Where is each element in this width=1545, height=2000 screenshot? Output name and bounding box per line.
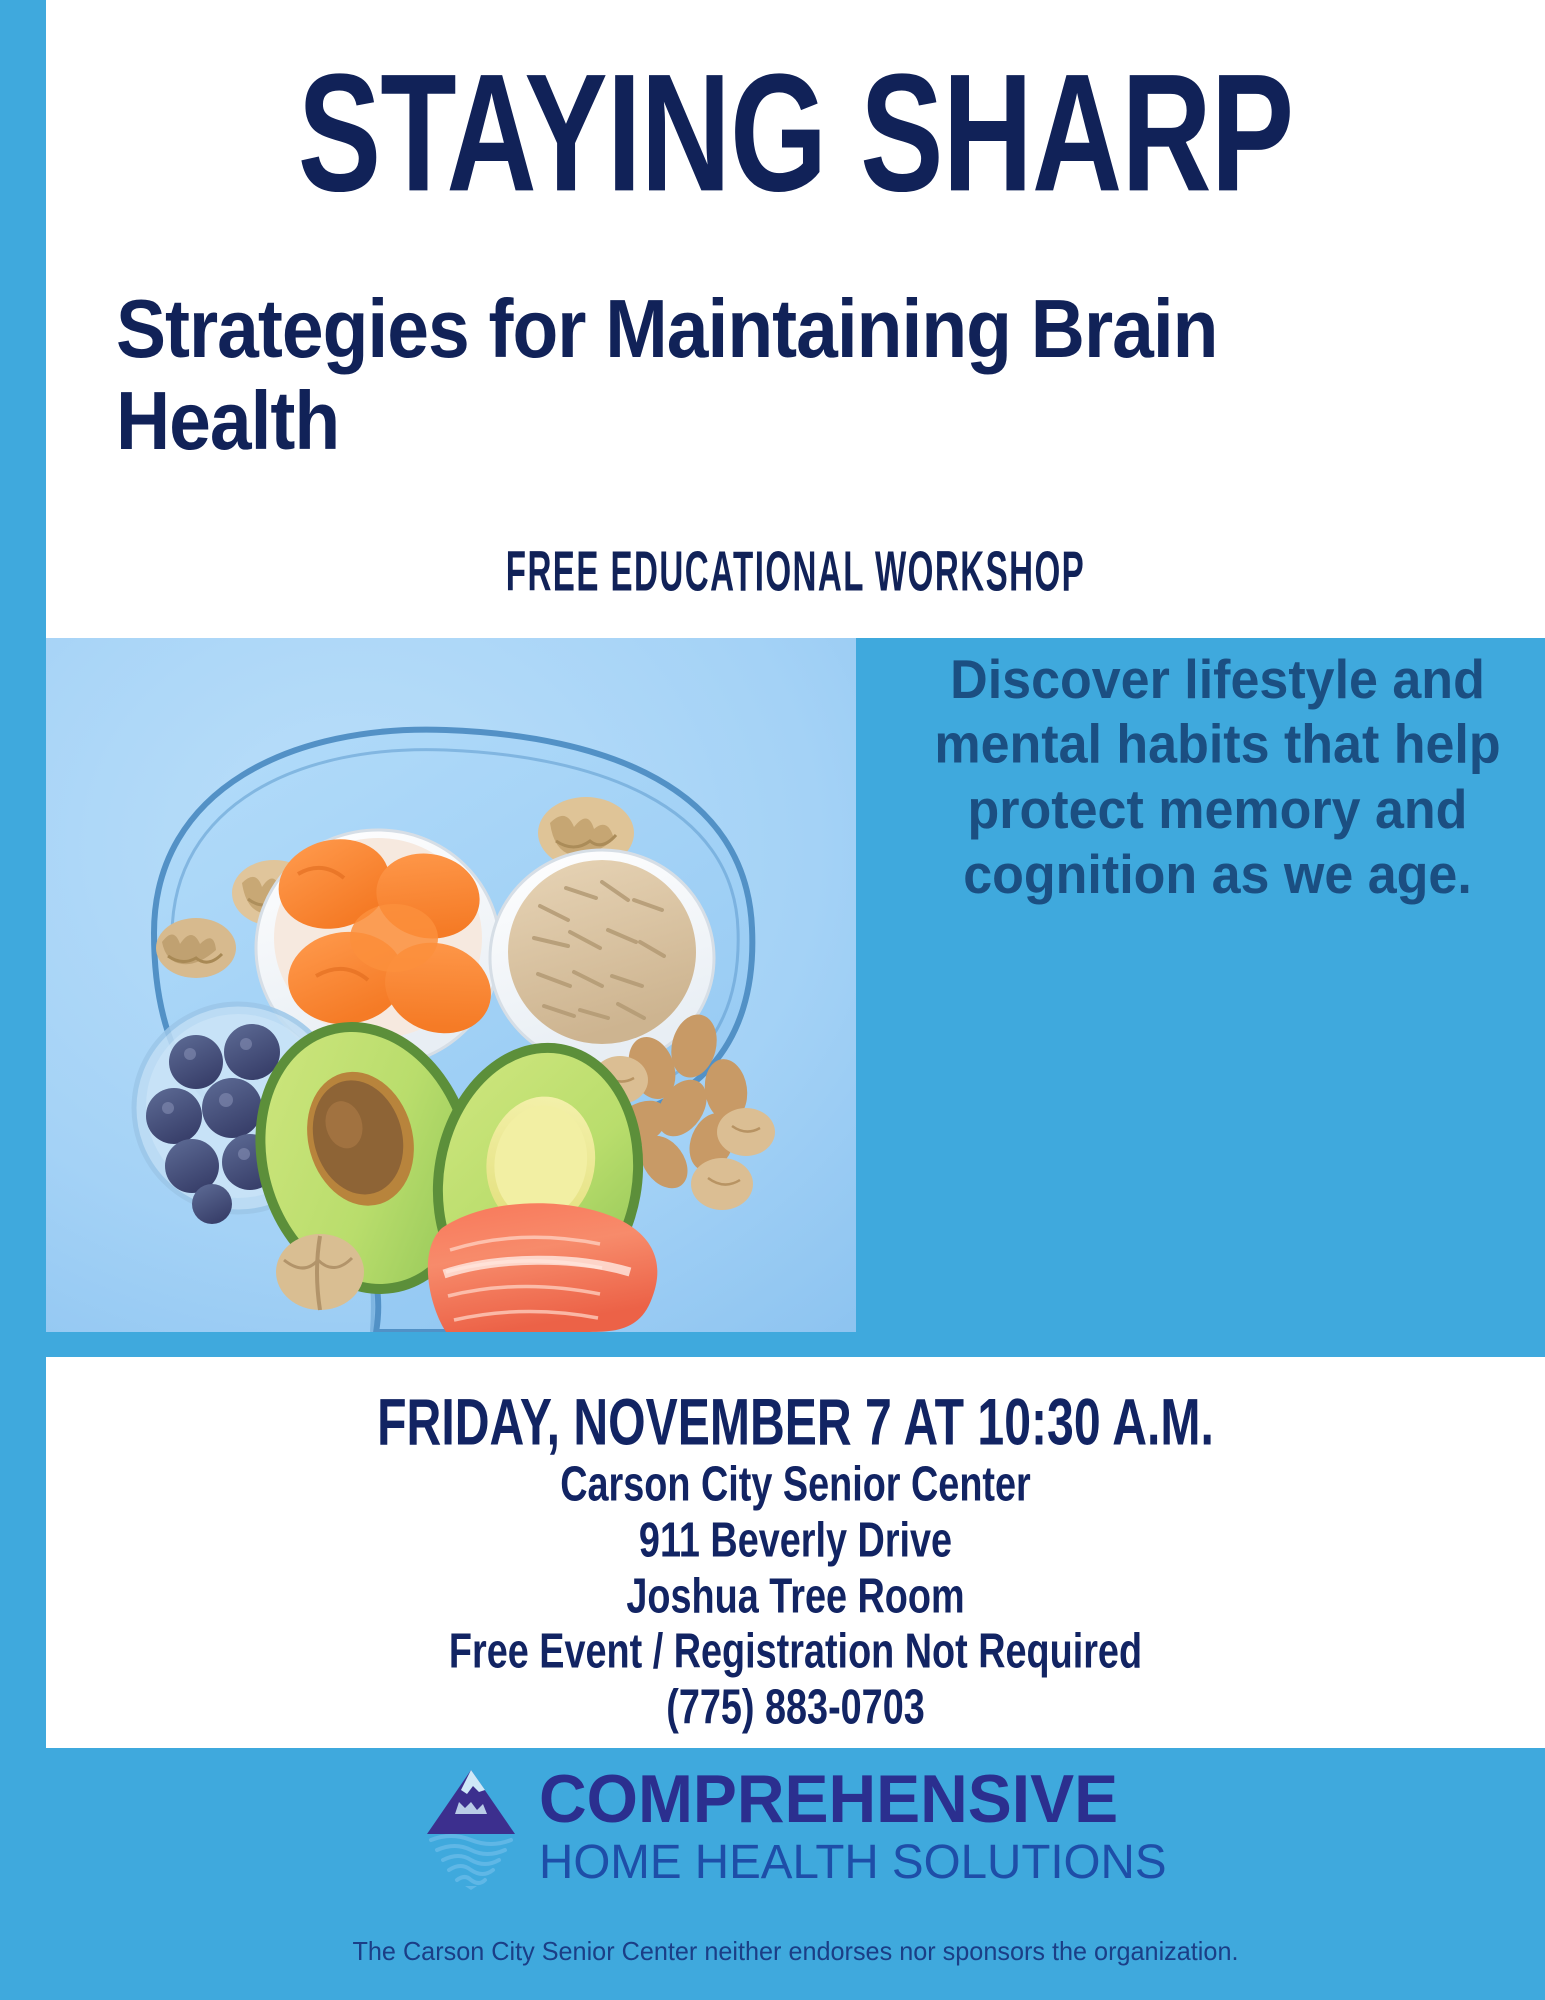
event-phone[interactable]: (775) 883-0703 — [121, 1683, 1470, 1733]
sponsor-name: COMPREHENSIVE — [539, 1765, 1154, 1833]
salmon-fillet — [428, 1203, 658, 1332]
event-venue: Carson City Senior Center — [121, 1460, 1470, 1510]
event-address: 911 Beverly Drive — [121, 1516, 1470, 1566]
sponsor-logo: COMPREHENSIVE HOME HEALTH SOLUTIONS — [46, 1762, 1545, 1890]
disclaimer-text: The Carson City Senior Center neither en… — [68, 1936, 1522, 1967]
mountain-over-water-icon — [419, 1762, 523, 1890]
workshop-kicker: FREE EDUCATIONAL WORKSHOP — [256, 538, 1335, 604]
event-dateline: FRIDAY, NOVEMBER 7 AT 10:30 A.M. — [151, 1383, 1440, 1460]
event-details-section: FRIDAY, NOVEMBER 7 AT 10:30 A.M. Carson … — [46, 1357, 1545, 1748]
flyer-page: STAYING SHARP Strategies for Maintaining… — [0, 0, 1545, 2000]
brain-food-illustration — [46, 638, 856, 1332]
sponsor-logo-text: COMPREHENSIVE HOME HEALTH SOLUTIONS — [539, 1765, 1173, 1887]
walnut-whole — [276, 1234, 364, 1310]
page-title: STAYING SHARP — [136, 50, 1455, 218]
page-subtitle: Strategies for Maintaining Brain Health — [116, 282, 1425, 467]
event-room: Joshua Tree Room — [121, 1572, 1470, 1622]
footer-section: COMPREHENSIVE HOME HEALTH SOLUTIONS The … — [46, 1748, 1545, 2000]
event-cost-note: Free Event / Registration Not Required — [121, 1627, 1470, 1677]
hero-image — [46, 638, 856, 1332]
header-section: STAYING SHARP Strategies for Maintaining… — [46, 0, 1545, 638]
sponsor-tagline: HOME HEALTH SOLUTIONS — [539, 1839, 1167, 1887]
left-accent-rail — [0, 0, 46, 2000]
hero-blurb: Discover lifestyle and mental habits tha… — [908, 648, 1527, 908]
